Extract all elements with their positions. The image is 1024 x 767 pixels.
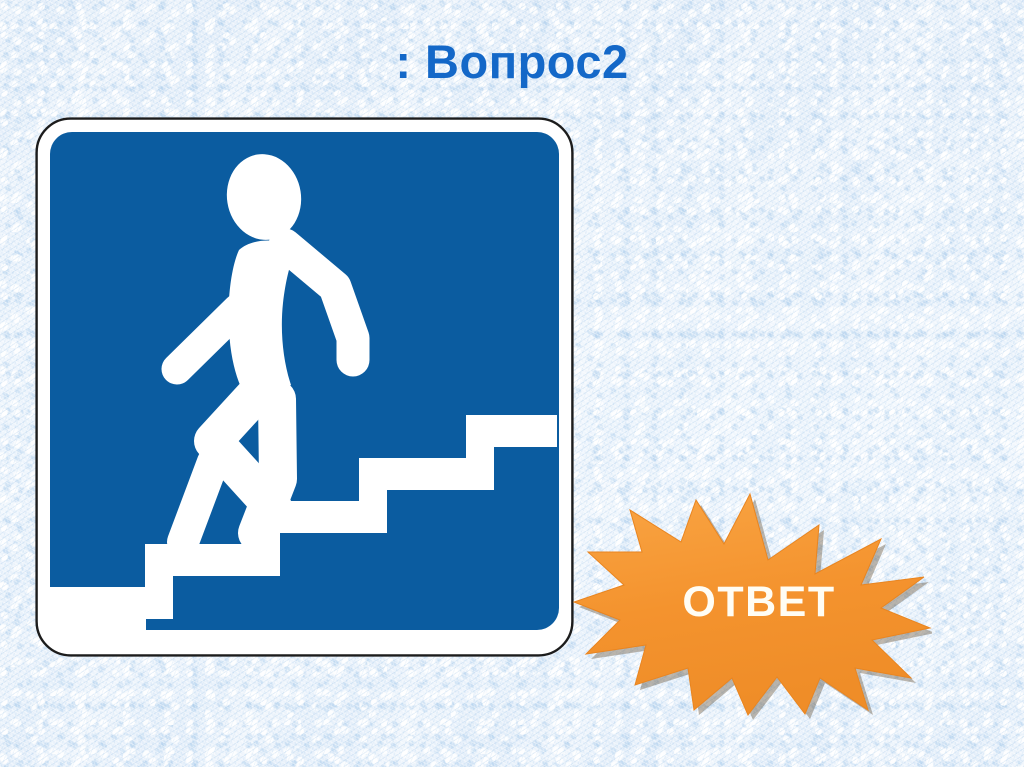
answer-button[interactable]: [572, 482, 932, 722]
sign-blue-field: [50, 132, 559, 630]
starburst-icon[interactable]: [572, 482, 932, 722]
pictogram-base-band: [50, 587, 146, 630]
page-title: : Вопрос2: [0, 36, 1024, 89]
road-sign-graphic: [35, 117, 574, 657]
starburst-shape[interactable]: [574, 494, 930, 715]
slide-canvas: : Вопрос2: [0, 0, 1024, 767]
road-sign: [35, 117, 574, 657]
